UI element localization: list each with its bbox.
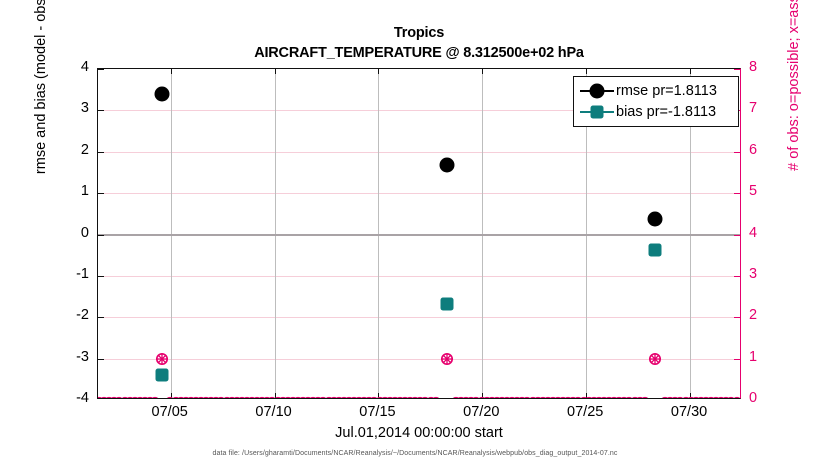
y-axis-tick-label-left: 2 xyxy=(0,143,89,157)
y-axis-tick-label-right: 8 xyxy=(749,60,809,74)
x-axis-tick-top xyxy=(171,69,172,74)
y-axis-tick-label-right: 6 xyxy=(749,143,809,157)
y-axis-tick-label-right: 3 xyxy=(749,267,809,281)
chart-subtitle: AIRCRAFT_TEMPERATURE @ 8.312500e+02 hPa xyxy=(97,43,741,63)
y-axis-tick-label-left: -3 xyxy=(0,350,89,364)
x-axis-tick-top xyxy=(482,69,483,74)
data-point-rmse xyxy=(647,212,662,227)
circle-marker-icon xyxy=(590,83,605,98)
x-axis-label: Jul.01,2014 00:00:00 start xyxy=(97,425,741,441)
data-point-rmse xyxy=(440,158,455,173)
y-axis-tick-label-left: -2 xyxy=(0,308,89,322)
y-axis-tick-left xyxy=(98,359,104,360)
figure-canvas: Tropics AIRCRAFT_TEMPERATURE @ 8.312500e… xyxy=(0,0,830,470)
zero-reference-line xyxy=(98,234,740,236)
y-axis-tick-right xyxy=(734,235,740,236)
x-axis-tick-top xyxy=(275,69,276,74)
data-point-obs-count xyxy=(648,352,661,365)
horizontal-gridline xyxy=(98,193,740,194)
legend-label-rmse: rmse pr=1.8113 xyxy=(616,83,717,99)
y-axis-tick-label-left: 1 xyxy=(0,184,89,198)
y-axis-tick-left xyxy=(98,69,104,70)
x-axis-tick-top xyxy=(586,69,587,74)
x-axis-tick-top xyxy=(690,69,691,74)
obs-zero-marker xyxy=(639,395,650,399)
y-axis-tick-label-left: -4 xyxy=(0,391,89,405)
legend-item-bias: bias pr=-1.8113 xyxy=(578,101,734,122)
data-point-obs-count xyxy=(156,352,169,365)
obs-zero-marker xyxy=(430,395,441,399)
y-axis-tick-label-right: 7 xyxy=(749,101,809,115)
legend-label-bias: bias pr=-1.8113 xyxy=(616,104,716,120)
y-axis-tick-label-right: 2 xyxy=(749,308,809,322)
y-axis-tick-label-left: -1 xyxy=(0,267,89,281)
x-axis-tick-label: 07/20 xyxy=(441,404,521,420)
y-axis-tick-label-right: 5 xyxy=(749,184,809,198)
y-axis-tick-left xyxy=(98,317,104,318)
obs-zero-marker xyxy=(150,395,161,399)
y-axis-tick-right xyxy=(734,317,740,318)
y-axis-tick-left xyxy=(98,152,104,153)
y-axis-tick-left xyxy=(98,235,104,236)
x-axis-tick-top xyxy=(378,69,379,74)
horizontal-gridline xyxy=(98,317,740,318)
y-axis-tick-label-right: 1 xyxy=(749,350,809,364)
x-axis-tick-label: 07/05 xyxy=(130,404,210,420)
square-marker-icon xyxy=(591,105,604,118)
legend-symbol-bias xyxy=(578,103,616,121)
x-axis-tick-label: 07/15 xyxy=(337,404,417,420)
y-axis-tick-right xyxy=(734,69,740,70)
legend-item-rmse: rmse pr=1.8113 xyxy=(578,80,734,101)
data-point-bias xyxy=(156,369,169,382)
obs-zero-marker xyxy=(731,395,740,399)
y-axis-tick-label-left: 4 xyxy=(0,60,89,74)
x-axis-tick-label: 07/10 xyxy=(234,404,314,420)
y-axis-tick-right xyxy=(734,359,740,360)
y-axis-tick-label-right: 4 xyxy=(749,226,809,240)
chart-legend: rmse pr=1.8113 bias pr=-1.8113 xyxy=(573,76,739,127)
data-point-obs-count xyxy=(441,352,454,365)
horizontal-gridline xyxy=(98,276,740,277)
y-axis-tick-left xyxy=(98,276,104,277)
data-point-rmse xyxy=(155,86,170,101)
obs-zero-band xyxy=(98,393,740,398)
y-axis-tick-label-left: 3 xyxy=(0,101,89,115)
y-axis-tick-right xyxy=(734,193,740,194)
y-axis-tick-right xyxy=(734,152,740,153)
y-axis-tick-left xyxy=(98,193,104,194)
x-axis-tick-label: 07/30 xyxy=(649,404,729,420)
y-axis-tick-label-right: 0 xyxy=(749,391,809,405)
y-axis-tick-right xyxy=(734,276,740,277)
legend-symbol-rmse xyxy=(578,82,616,100)
data-file-annotation: data file: /Users/gharamti/Documents/NCA… xyxy=(0,450,830,457)
data-point-bias xyxy=(648,244,661,257)
horizontal-gridline xyxy=(98,359,740,360)
y-axis-tick-left xyxy=(98,110,104,111)
data-point-bias xyxy=(441,297,454,310)
chart-title: Tropics xyxy=(97,24,741,43)
x-axis-tick-label: 07/25 xyxy=(545,404,625,420)
chart-title-block: Tropics AIRCRAFT_TEMPERATURE @ 8.312500e… xyxy=(97,24,741,63)
horizontal-gridline xyxy=(98,152,740,153)
y-axis-tick-label-left: 0 xyxy=(0,226,89,240)
